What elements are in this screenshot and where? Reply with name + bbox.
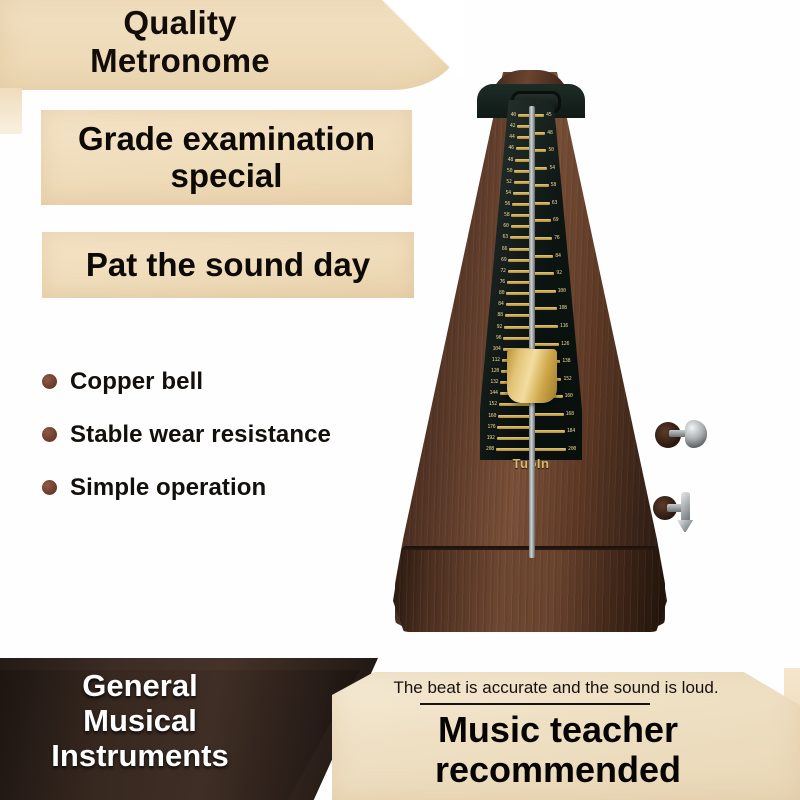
scale-tick: 76 xyxy=(531,235,560,242)
scale-tick-label: 200 xyxy=(568,447,576,452)
scale-tick-label: 116 xyxy=(560,324,568,329)
scale-tick-label: 144 xyxy=(490,391,498,396)
scale-tick-label: 126 xyxy=(561,342,569,347)
scale-tick-bar xyxy=(531,325,558,328)
scale-tick-bar xyxy=(510,236,531,239)
scale-tick-bar xyxy=(531,413,564,416)
scale-tick-bar xyxy=(506,292,531,295)
scale-tick-label: 100 xyxy=(558,289,566,294)
headline-plaque-2: Pat the sound day xyxy=(42,232,414,298)
scale-tick-label: 46 xyxy=(508,146,513,151)
feature-list: Copper bell Stable wear resistance Simpl… xyxy=(42,355,412,514)
scale-tick-label: 120 xyxy=(491,369,499,374)
scale-tick-bar xyxy=(531,430,565,433)
list-item: Simple operation xyxy=(42,461,412,514)
scale-tick: 48 xyxy=(508,157,531,164)
scale-tick: 58 xyxy=(504,212,531,219)
scale-tick: 92 xyxy=(531,270,562,277)
scale-tick-label: 58 xyxy=(504,213,509,218)
scale-tick-label: 208 xyxy=(486,447,494,452)
pendulum-rod[interactable] xyxy=(529,106,535,558)
scale-tick-label: 160 xyxy=(488,414,496,419)
feature-label: Copper bell xyxy=(70,368,203,396)
scale-tick-label: 56 xyxy=(505,202,510,207)
bullet-dot-icon xyxy=(42,427,57,442)
scale-tick: 54 xyxy=(505,190,531,197)
scale-tick-label: 50 xyxy=(507,169,512,174)
scale-tick: 116 xyxy=(531,323,568,330)
footer-brand-line3: Instruments xyxy=(0,738,280,773)
scale-tick-bar xyxy=(507,281,531,284)
scale-tick: 40 xyxy=(511,112,531,119)
scale-tick: 200 xyxy=(531,446,576,453)
scale-tick-label: 92 xyxy=(497,325,502,330)
left-accent-strip xyxy=(0,88,22,134)
scale-tick: 92 xyxy=(497,324,531,331)
footer-brand-text: General Musical Instruments xyxy=(0,668,280,773)
scale-tick-label: 92 xyxy=(556,271,561,276)
scale-tick: 66 xyxy=(502,246,531,253)
scale-tick: 52 xyxy=(506,179,531,186)
scale-tick: 160 xyxy=(488,413,531,420)
bullet-dot-icon xyxy=(42,374,57,389)
scale-tick-label: 88 xyxy=(497,313,502,318)
scale-tick: 46 xyxy=(508,145,531,152)
scale-tick-label: 80 xyxy=(499,291,504,296)
scale-tick-bar xyxy=(531,448,566,451)
scale-tick: 84 xyxy=(498,301,531,308)
scale-tick-label: 45 xyxy=(546,113,551,118)
headline-plaque-1-text: Grade examination special xyxy=(41,121,412,195)
scale-tick-bar xyxy=(498,415,531,418)
scale-tick-label: 76 xyxy=(554,236,559,241)
scale-tick-label: 54 xyxy=(505,191,510,196)
scale-tick-label: 192 xyxy=(487,436,495,441)
scale-tick-bar xyxy=(496,448,531,451)
scale-tick-label: 48 xyxy=(508,158,513,163)
scale-tick-bar xyxy=(511,225,531,228)
product-ad-canvas: Quality Metronome Grade examination spec… xyxy=(0,0,800,800)
scale-tick-label: 63 xyxy=(552,201,557,206)
scale-tick-label: 152 xyxy=(489,402,497,407)
scale-tick: 96 xyxy=(496,335,531,342)
scale-tick-bar xyxy=(506,303,531,306)
scale-tick-label: 132 xyxy=(490,380,498,385)
chrome-knob[interactable] xyxy=(685,420,707,448)
scale-tick-bar xyxy=(531,343,559,346)
scale-tick-label: 84 xyxy=(555,254,560,259)
scale-tick-label: 40 xyxy=(511,113,516,118)
page-title-line2: Metronome xyxy=(0,42,360,80)
scale-tick-label: 168 xyxy=(566,412,574,417)
bullet-dot-icon xyxy=(42,480,57,495)
scale-tick-label: 138 xyxy=(562,359,570,364)
list-item: Stable wear resistance xyxy=(42,408,412,461)
scale-tick-label: 160 xyxy=(565,394,573,399)
scale-tick: 108 xyxy=(531,305,567,312)
scale-tick-label: 48 xyxy=(547,131,552,136)
scale-tick: 76 xyxy=(500,279,531,286)
headline-plaque-1: Grade examination special xyxy=(41,110,412,205)
scale-tick-label: 69 xyxy=(553,218,558,223)
scale-tick: 60 xyxy=(503,223,531,230)
feature-label: Stable wear resistance xyxy=(70,421,331,449)
scale-tick: 168 xyxy=(531,411,574,418)
footer-tagline: The beat is accurate and the sound is lo… xyxy=(356,678,756,698)
scale-tick-label: 152 xyxy=(563,377,571,382)
footer-brand-line1: General xyxy=(0,668,280,703)
scale-tick-bar xyxy=(504,326,531,329)
scale-tick-bar xyxy=(505,314,531,317)
scale-tick-bar xyxy=(508,270,531,273)
bpm-scale-left: 4042444648505254565860636669727680848892… xyxy=(483,106,531,458)
scale-tick-bar xyxy=(497,426,531,429)
scale-tick-bar xyxy=(497,437,531,440)
scale-tick-label: 104 xyxy=(492,347,500,352)
scale-tick-label: 96 xyxy=(496,336,501,341)
feature-label: Simple operation xyxy=(70,474,266,502)
list-item: Copper bell xyxy=(42,355,412,408)
headline-plaque-2-text: Pat the sound day xyxy=(86,246,370,284)
scale-tick: 184 xyxy=(531,428,575,435)
scale-tick-label: 63 xyxy=(503,235,508,240)
scale-tick: 69 xyxy=(501,257,531,264)
scale-tick-label: 42 xyxy=(510,124,515,129)
scale-tick-label: 72 xyxy=(500,269,505,274)
scale-tick: 80 xyxy=(499,290,531,297)
scale-tick-bar xyxy=(509,248,531,251)
page-title: Quality Metronome xyxy=(0,4,360,81)
scale-tick-label: 54 xyxy=(549,166,554,171)
scale-tick: 208 xyxy=(486,446,531,453)
metronome-base xyxy=(393,550,667,632)
scale-tick: 192 xyxy=(487,435,531,442)
footer-brand-line2: Musical xyxy=(0,703,280,738)
page-title-line1: Quality xyxy=(0,4,360,42)
footer-headline-line2: recommended xyxy=(356,750,760,790)
scale-tick-label: 69 xyxy=(501,258,506,263)
scale-tick-label: 44 xyxy=(509,135,514,140)
footer-divider xyxy=(420,703,650,705)
scale-tick: 63 xyxy=(503,234,531,241)
winding-key-blade xyxy=(677,520,693,532)
scale-tick-bar xyxy=(508,259,531,262)
scale-tick-label: 108 xyxy=(559,306,567,311)
scale-tick-label: 176 xyxy=(487,425,495,430)
metronome-product-image: 4042444648505254565860636669727680848892… xyxy=(385,72,705,632)
scale-tick-label: 184 xyxy=(567,429,575,434)
scale-tick-label: 50 xyxy=(548,148,553,153)
scale-tick-label: 84 xyxy=(498,302,503,307)
scale-tick-label: 52 xyxy=(506,180,511,185)
scale-tick-bar xyxy=(503,337,531,340)
scale-tick: 42 xyxy=(510,123,531,130)
scale-tick: 100 xyxy=(531,288,566,295)
scale-tick: 50 xyxy=(507,168,531,175)
scale-tick-label: 60 xyxy=(503,224,508,229)
footer-headline-line1: Music teacher xyxy=(356,710,760,750)
scale-tick-bar xyxy=(499,403,531,406)
scale-tick: 72 xyxy=(500,268,531,275)
scale-tick: 88 xyxy=(497,312,531,319)
scale-tick: 44 xyxy=(509,134,531,141)
scale-tick-label: 58 xyxy=(551,183,556,188)
scale-tick-label: 112 xyxy=(492,358,500,363)
scale-tick-label: 66 xyxy=(502,247,507,252)
bpm-scale-right: 4548505458636976849210010811612613815216… xyxy=(531,106,581,458)
tempo-weight-slider[interactable] xyxy=(507,349,557,403)
scale-tick: 56 xyxy=(505,201,531,208)
scale-tick: 176 xyxy=(487,424,531,431)
scale-tick: 69 xyxy=(531,217,558,224)
scale-tick: 126 xyxy=(531,341,569,348)
footer-headline: Music teacher recommended xyxy=(356,710,760,791)
scale-tick: 84 xyxy=(531,253,561,260)
scale-tick-label: 76 xyxy=(500,280,505,285)
